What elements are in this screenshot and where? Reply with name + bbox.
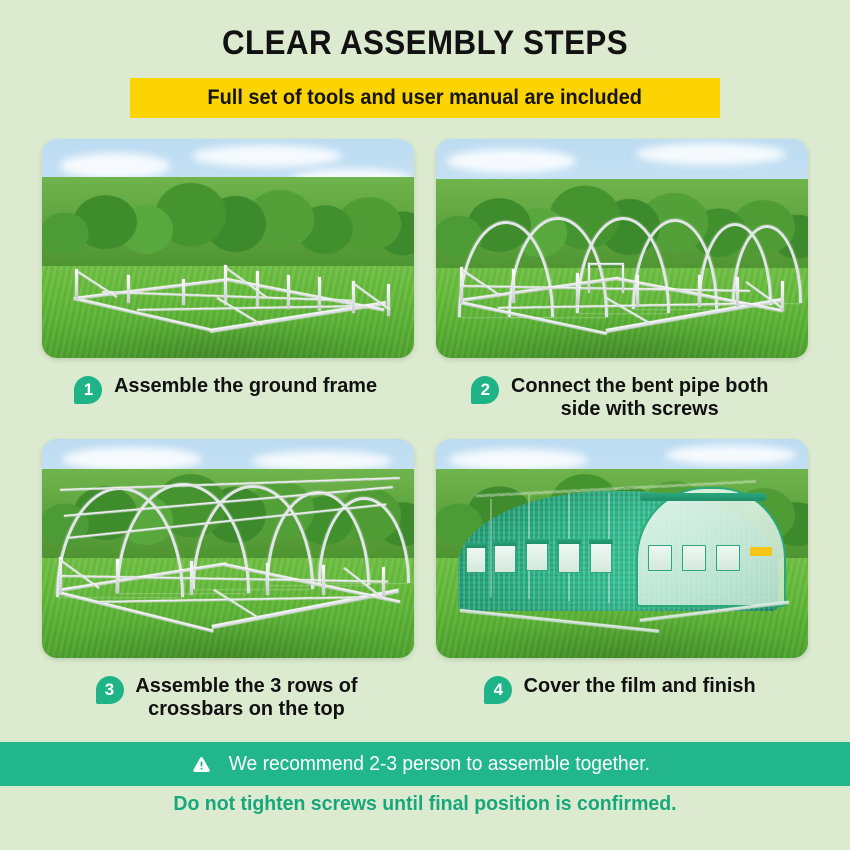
step-panel-4: 4 Cover the film and finish — [436, 439, 808, 658]
cloud-shape — [252, 451, 392, 471]
footer-note: Do not tighten screws until final positi… — [21, 792, 829, 816]
page-title: CLEAR ASSEMBLY STEPS — [34, 24, 816, 63]
step-badge-4: 4 — [484, 676, 512, 704]
recommendation-banner: We recommend 2-3 person to assemble toge… — [0, 742, 850, 786]
subtitle-banner: Full set of tools and user manual are in… — [130, 78, 720, 118]
step-caption-2: 2 Connect the bent pipe both side with s… — [436, 367, 808, 421]
cloud-shape — [62, 447, 202, 471]
brand-logo-badge — [750, 547, 772, 556]
step-badge-1: 1 — [74, 376, 102, 404]
ground-frame-photo — [42, 139, 414, 358]
step-caption-4: 4 Cover the film and finish — [436, 667, 808, 704]
cloud-shape — [666, 445, 796, 465]
step-badge-2: 2 — [471, 376, 499, 404]
step-caption-3: 3 Assemble the 3 rows of crossbars on th… — [42, 667, 414, 721]
step-label-1: Assemble the ground frame — [115, 375, 378, 398]
recommendation-text: We recommend 2-3 person to assemble toge… — [228, 753, 649, 776]
step-panel-1: 1 Assemble the ground frame — [42, 139, 414, 358]
step-panel-3: 3 Assemble the 3 rows of crossbars on th… — [42, 439, 414, 658]
bent-pipe-frame-photo — [436, 139, 808, 358]
cloud-shape — [636, 143, 786, 165]
step-panel-2: 2 Connect the bent pipe both side with s… — [436, 139, 808, 358]
cloud-shape — [448, 449, 588, 471]
cloud-shape — [192, 145, 342, 167]
subtitle-text: Full set of tools and user manual are in… — [208, 86, 643, 110]
warning-triangle-icon — [192, 755, 211, 774]
cloud-shape — [60, 153, 170, 179]
assembly-steps-infographic: CLEAR ASSEMBLY STEPS Full set of tools a… — [0, 0, 850, 850]
covered-greenhouse-photo — [436, 439, 808, 658]
step-badge-3: 3 — [96, 676, 124, 704]
step-label-4: Cover the film and finish — [524, 675, 756, 698]
step-caption-1: 1 Assemble the ground frame — [42, 367, 414, 404]
cloud-shape — [446, 149, 576, 173]
crossbar-frame-photo — [42, 439, 414, 658]
step-label-3: Assemble the 3 rows of crossbars on the … — [135, 675, 357, 721]
step-label-2: Connect the bent pipe both side with scr… — [511, 375, 768, 421]
